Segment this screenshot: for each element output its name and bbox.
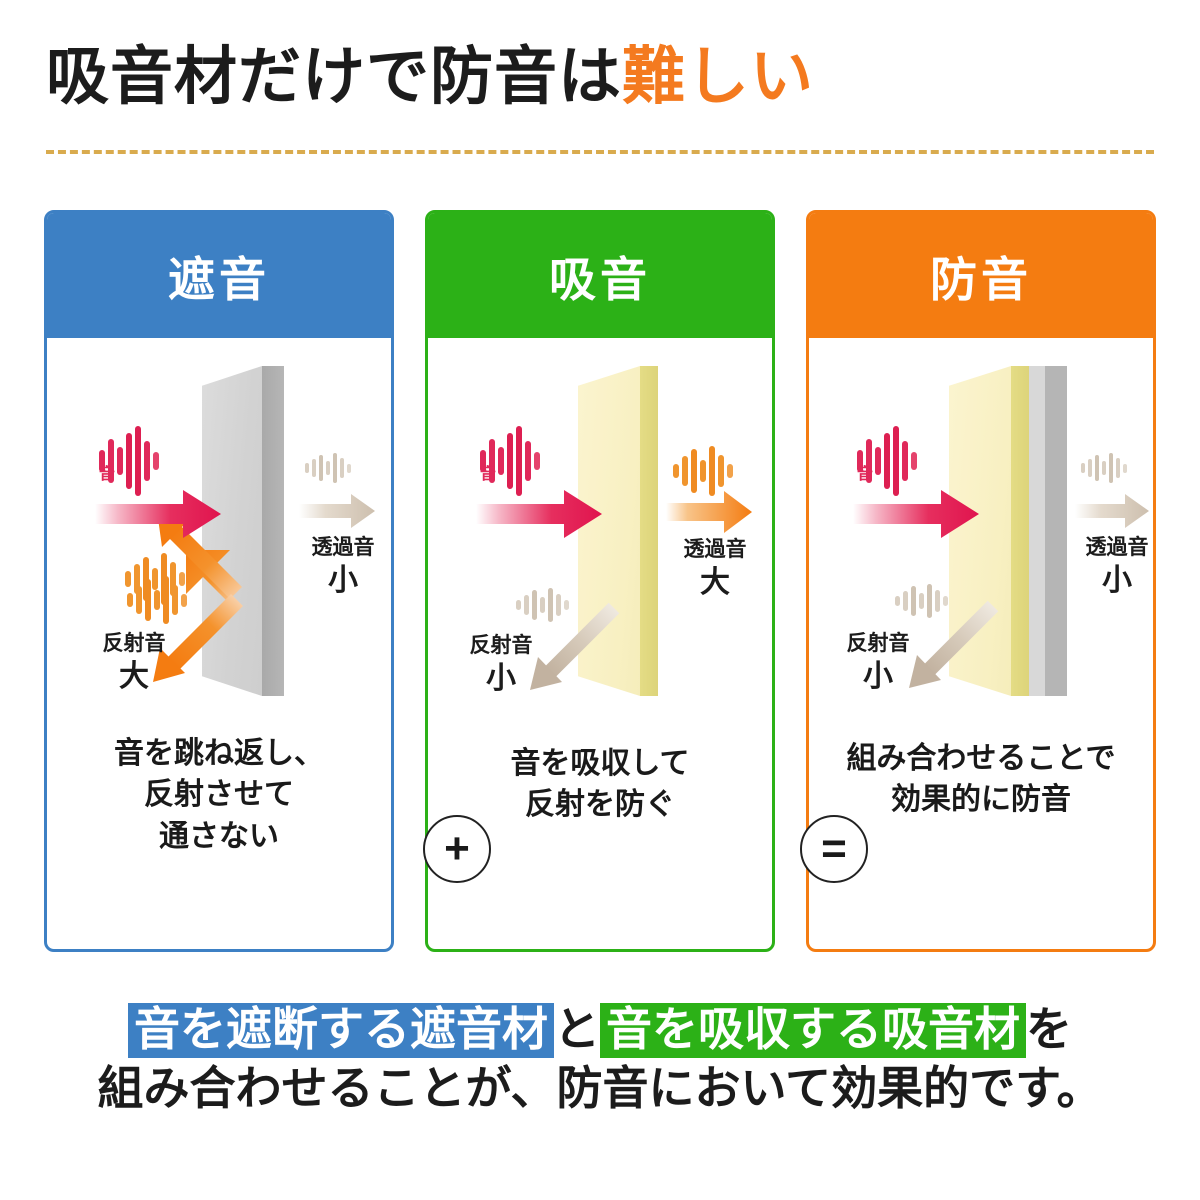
caption-line-1: 組み合わせることで [809, 738, 1153, 779]
footer-summary: 音を遮断する遮音材と音を吸収する吸音材を 組み合わせることが、防音において効果的… [0, 1000, 1200, 1118]
transmitted-value: 小 [293, 564, 393, 599]
caption-line-1: 音を吸収して [428, 743, 772, 784]
transmitted-label: 透過音 [293, 536, 393, 560]
sound-label: 音 [480, 466, 496, 484]
page-title: 吸音材だけで防音は難しい [46, 30, 1156, 125]
footer-highlight-kyuonzai: 音を吸収する吸音材 [600, 1003, 1026, 1058]
panel-body-shaon: 音 [47, 338, 391, 952]
absorber-side-face [1011, 366, 1029, 696]
caption-line-1: 音を跳ね返し、 [47, 733, 391, 774]
incoming-sound-arrow [476, 488, 606, 540]
transmitted-arrow [666, 490, 756, 534]
reflected-label: 反射音 [79, 632, 189, 656]
transmitted-wave [1081, 453, 1127, 483]
incoming-sound-wave [480, 426, 540, 496]
panel-shaon[interactable]: 遮音 [44, 210, 394, 952]
transmitted-arrow [299, 493, 379, 529]
reflected-label: 反射音 [823, 632, 933, 656]
panel-caption-bouon: 組み合わせることで 効果的に防音 [809, 738, 1153, 821]
incoming-sound-wave [99, 426, 159, 496]
page-title-main: 吸音材だけで防音は [46, 42, 622, 112]
transmitted-value: 小 [1067, 564, 1156, 599]
transmitted-arrow [1075, 493, 1151, 529]
transmitted-value: 大 [660, 566, 770, 601]
caption-line-3: 通さない [47, 816, 391, 857]
footer-conjunction: と [554, 1003, 600, 1055]
panel-caption-shaon: 音を跳ね返し、 反射させて 通さない [47, 733, 391, 857]
reflected-label: 反射音 [446, 634, 556, 658]
caption-line-2: 反射を防ぐ [428, 784, 772, 825]
plus-icon: + [423, 815, 491, 883]
footer-line-1: 音を遮断する遮音材と音を吸収する吸音材を [0, 1000, 1200, 1059]
transmitted-wave [673, 446, 733, 496]
panels-row: 遮音 [44, 210, 1156, 955]
incoming-sound-arrow [853, 488, 983, 540]
dashed-divider [46, 150, 1154, 154]
incoming-sound-wave [857, 426, 917, 496]
footer-particle: を [1026, 1003, 1072, 1055]
reflected-value: 大 [79, 660, 189, 695]
reflected-value: 小 [823, 660, 933, 695]
barrier-light-layer [1029, 366, 1045, 696]
footer-highlight-shaonzai: 音を遮断する遮音材 [128, 1003, 554, 1058]
sound-label: 音 [857, 466, 873, 484]
panel-caption-kyuon: 音を吸収して 反射を防ぐ [428, 743, 772, 826]
equals-icon: = [800, 815, 868, 883]
absorber-side-face [640, 366, 658, 696]
transmitted-label: 透過音 [1067, 536, 1156, 560]
transmitted-wave [305, 453, 351, 483]
barrier-dark-layer [1045, 366, 1067, 696]
page-title-accent: 難しい [622, 42, 814, 112]
panel-header-shaon: 遮音 [47, 213, 391, 338]
footer-line-2: 組み合わせることが、防音において効果的です。 [0, 1059, 1200, 1118]
transmitted-label: 透過音 [660, 538, 770, 562]
panel-header-bouon: 防音 [809, 213, 1153, 338]
sound-label: 音 [99, 466, 115, 484]
incoming-sound-arrow [95, 488, 225, 540]
panel-header-kyuon: 吸音 [428, 213, 772, 338]
wall-side-face [262, 366, 284, 696]
caption-line-2: 効果的に防音 [809, 779, 1153, 820]
reflected-value: 小 [446, 662, 556, 697]
caption-line-2: 反射させて [47, 774, 391, 815]
